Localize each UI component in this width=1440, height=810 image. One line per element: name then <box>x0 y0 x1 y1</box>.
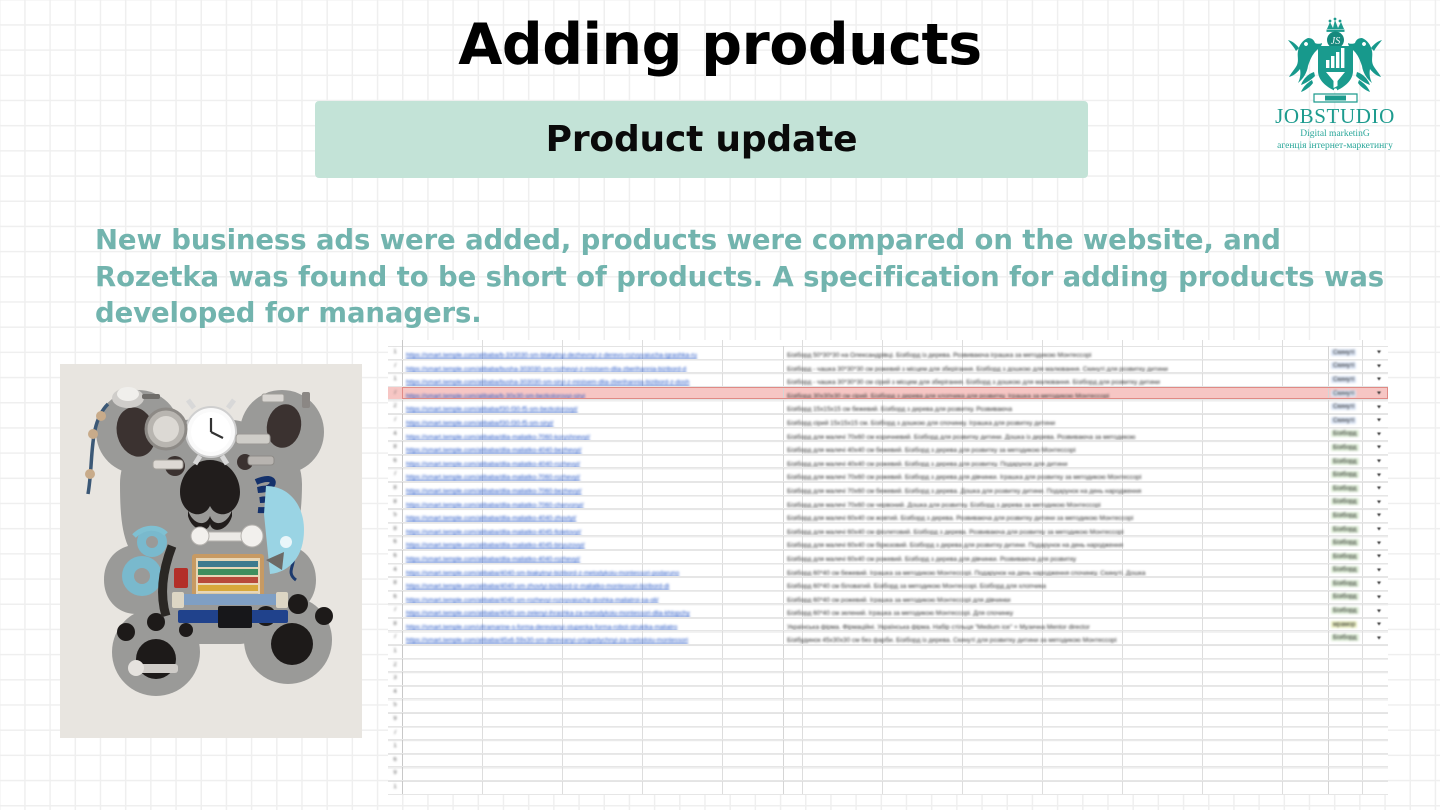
cell-product-url[interactable]: https://smart.temple.com/alibaba/4040-sm… <box>402 604 783 617</box>
table-row[interactable]: 4https://smart.temple.com/alibaba/dlia-m… <box>388 428 1388 442</box>
cell-product-description[interactable]: Бізіборд 60*40 см біловатий. Бізіборд за… <box>783 577 1328 590</box>
row-number: 9 <box>388 767 402 780</box>
spreadsheet-rows: 1https://smart.temple.com/alibaba/b-3X30… <box>388 346 1388 795</box>
row-number: 6 <box>388 455 402 468</box>
cell-empty[interactable] <box>783 672 1328 685</box>
status-badge: Бізіборд <box>1331 566 1359 573</box>
slide-canvas: Adding products Product update New busin… <box>0 0 1440 810</box>
table-row-empty[interactable]: 9 <box>388 713 1388 727</box>
cell-product-description[interactable]: Бізіборд для малечі 70x60 см коричневий.… <box>783 428 1328 441</box>
cell-product-url[interactable]: https://smart.temple.com/alibaba/45x6-59… <box>402 631 783 644</box>
row-number: 7 <box>388 387 402 400</box>
table-row-empty[interactable]: 7 <box>388 727 1388 741</box>
status-badge: мрамор <box>1331 621 1357 628</box>
cell-product-description[interactable]: Бізіборд для малечі 60x40 см рожевий. Бі… <box>783 550 1328 563</box>
cell-product-url[interactable]: https://smart.temple.com/alibaba/f30-f30… <box>402 414 783 427</box>
table-row[interactable]: 6https://smart.temple.com/alibaba/dlia-m… <box>388 455 1388 469</box>
cell-empty[interactable] <box>783 659 1328 672</box>
cell-empty[interactable] <box>1328 754 1388 767</box>
cell-product-url[interactable]: https://smart.temple.com/alibaba/busha-3… <box>402 373 783 386</box>
logo-tagline-en: Digital marketinG <box>1270 129 1400 141</box>
cell-product-description[interactable]: Бізіборд для малечі 60x40 см жовтий. Біз… <box>783 509 1328 522</box>
chevron-down-icon[interactable] <box>1377 636 1381 639</box>
status-badge: Бізіборд <box>1331 430 1359 437</box>
row-number: 2 <box>388 659 402 672</box>
cell-status-dropdown[interactable]: Бізіборд <box>1328 577 1388 590</box>
cell-empty[interactable] <box>402 699 783 712</box>
cell-product-url[interactable]: https://smart.temple.com/ultramarine-s-f… <box>402 618 783 631</box>
cell-empty[interactable] <box>783 754 1328 767</box>
cell-status-dropdown[interactable]: Скинуті <box>1328 360 1388 373</box>
table-row[interactable]: 8https://smart.temple.com/alibaba/dlia-m… <box>388 523 1388 537</box>
row-number: 4 <box>388 564 402 577</box>
status-badge: Бізіборд <box>1331 458 1359 465</box>
chevron-down-icon[interactable] <box>1377 460 1381 463</box>
cell-empty[interactable] <box>1328 727 1388 740</box>
chevron-down-icon[interactable] <box>1377 432 1381 435</box>
chevron-down-icon[interactable] <box>1377 528 1381 531</box>
table-row[interactable]: 7https://smart.temple.com/alibaba/4040-s… <box>388 604 1388 618</box>
table-row[interactable]: 7https://smart.temple.com/alibaba/f30-f3… <box>388 414 1388 428</box>
status-badge: Бізіборд <box>1331 485 1359 492</box>
cell-empty[interactable] <box>783 645 1328 658</box>
cell-status-dropdown[interactable]: Скинуті <box>1328 373 1388 386</box>
cell-status-dropdown[interactable]: Скинуті <box>1328 387 1388 400</box>
chevron-down-icon[interactable] <box>1377 623 1381 626</box>
table-row[interactable]: 6https://smart.temple.com/alibaba/dlia-m… <box>388 550 1388 564</box>
table-row[interactable]: 8https://smart.temple.com/alibaba/dlia-m… <box>388 496 1388 510</box>
cell-product-url[interactable]: https://smart.temple.com/alibaba/b-3X303… <box>402 346 783 359</box>
status-badge: Бізіборд <box>1331 444 1359 451</box>
cell-product-url[interactable]: https://smart.temple.com/alibaba/dlia-ma… <box>402 509 783 522</box>
chevron-down-icon[interactable] <box>1377 555 1381 558</box>
row-number: 8 <box>388 496 402 509</box>
status-badge: Бізіборд <box>1331 593 1359 600</box>
cell-status-dropdown[interactable]: Бізіборд <box>1328 509 1388 522</box>
cell-product-description[interactable]: Бізіборд - чашка 30*30*30 см рожевий з м… <box>783 360 1328 373</box>
cell-empty[interactable] <box>783 686 1328 699</box>
cell-empty[interactable] <box>1328 659 1388 672</box>
status-badge: Скинуті <box>1331 362 1356 369</box>
cell-status-dropdown[interactable]: Бізіборд <box>1328 523 1388 536</box>
status-badge: Скинуті <box>1331 417 1356 424</box>
cell-product-url[interactable]: https://smart.temple.com/alibaba/dlia-ma… <box>402 455 783 468</box>
row-number: 6 <box>388 591 402 604</box>
table-row-empty[interactable]: 9 <box>388 767 1388 781</box>
cell-empty[interactable] <box>402 767 783 780</box>
table-row[interactable]: 2https://smart.temple.com/alibaba/f30-f3… <box>388 400 1388 414</box>
cell-empty[interactable] <box>783 699 1328 712</box>
cell-status-dropdown[interactable]: Скинуті <box>1328 414 1388 427</box>
cell-product-description[interactable]: Бізіборд для малечі 40x40 см рожевий. Бі… <box>783 455 1328 468</box>
cell-product-description[interactable]: Бізіборд 60*40 см зелений. Іграшка за ме… <box>783 604 1328 617</box>
row-number: 6 <box>388 550 402 563</box>
cell-product-url[interactable]: https://smart.temple.com/alibaba/f30-f30… <box>402 400 783 413</box>
row-number: 7 <box>388 631 402 644</box>
cell-product-description[interactable]: Бізіборд для малечі 60x40 см фіолетовий.… <box>783 523 1328 536</box>
cell-product-description[interactable]: Бізіборд для малечі 70x60 см рожевий. Бі… <box>783 468 1328 481</box>
cell-status-dropdown[interactable]: Скинуті <box>1328 400 1388 413</box>
table-row[interactable]: 4https://smart.temple.com/alibaba/4040-s… <box>388 564 1388 578</box>
cell-product-url[interactable]: https://smart.temple.com/alibaba/4040-sm… <box>402 564 783 577</box>
table-row-empty[interactable]: 1 <box>388 645 1388 659</box>
cell-empty[interactable] <box>783 767 1328 780</box>
cell-status-dropdown[interactable]: мрамор <box>1328 618 1388 631</box>
cell-empty[interactable] <box>402 713 783 726</box>
chevron-down-icon[interactable] <box>1377 351 1381 354</box>
row-number: 1 <box>388 373 402 386</box>
spreadsheet-screenshot: 1https://smart.temple.com/alibaba/b-3X30… <box>388 340 1388 795</box>
chevron-down-icon[interactable] <box>1377 541 1381 544</box>
cell-product-description[interactable]: Бізіборд для малечі 40x40 см бежевий. Бі… <box>783 441 1328 454</box>
row-number: 7 <box>388 468 402 481</box>
table-row[interactable]: 6https://smart.temple.com/alibaba/4040-s… <box>388 591 1388 605</box>
product-photo <box>60 364 362 738</box>
table-row[interactable]: 7https://smart.temple.com/alibaba/dlia-m… <box>388 468 1388 482</box>
cell-product-description[interactable]: Бізіборд - чашка 30*30*30 см сірий з міс… <box>783 373 1328 386</box>
row-number: 2 <box>388 400 402 413</box>
table-row[interactable]: 7https://smart.temple.com/alibaba/45x6-5… <box>388 631 1388 645</box>
chevron-down-icon[interactable] <box>1377 473 1381 476</box>
brand-logo: JS JOBSTUDIO <box>1270 16 1400 156</box>
cell-product-description[interactable]: Бізібудинок 45x30x30 см без фарби. Бізіб… <box>783 631 1328 644</box>
row-number: 1 <box>388 645 402 658</box>
row-number: 1 <box>388 781 402 794</box>
table-row[interactable]: 8https://smart.temple.com/ultramarine-s-… <box>388 618 1388 632</box>
cell-product-description[interactable]: Бізіборд 60*40 см бежевий. Іграшка за ме… <box>783 564 1328 577</box>
status-badge: Бізіборд <box>1331 526 1359 533</box>
chevron-down-icon[interactable] <box>1377 405 1381 408</box>
cell-product-description[interactable]: Бізіборд 15x15x15 см бежевий. Бізіборд з… <box>783 400 1328 413</box>
cell-product-url[interactable]: https://smart.temple.com/alibaba/dlia-ma… <box>402 482 783 495</box>
status-badge: Бізіборд <box>1331 580 1359 587</box>
chevron-down-icon[interactable] <box>1377 487 1381 490</box>
row-number: 9 <box>388 713 402 726</box>
cell-product-url[interactable]: https://smart.temple.com/alibaba/dlia-ma… <box>402 441 783 454</box>
chevron-down-icon[interactable] <box>1377 568 1381 571</box>
table-row[interactable]: 5https://smart.temple.com/alibaba/dlia-m… <box>388 509 1388 523</box>
cell-product-url[interactable]: https://smart.temple.com/alibaba/dlia-ma… <box>402 428 783 441</box>
cell-empty[interactable] <box>1328 645 1388 658</box>
row-number: 5 <box>388 699 402 712</box>
chevron-down-icon[interactable] <box>1377 364 1381 367</box>
cell-product-url[interactable]: https://smart.temple.com/alibaba/dlia-ma… <box>402 496 783 509</box>
status-badge: Бізіборд <box>1331 512 1359 519</box>
table-row[interactable]: 8https://smart.temple.com/alibaba/4040-s… <box>388 577 1388 591</box>
logo-tagline-ua: агенція інтернет-маркетингу <box>1270 141 1400 153</box>
cell-status-dropdown[interactable]: Бізіборд <box>1328 482 1388 495</box>
row-number: 7 <box>388 604 402 617</box>
cell-product-description[interactable]: Бізіборд для малечі 70x60 см червоний. Д… <box>783 496 1328 509</box>
cell-product-description[interactable]: Бізіборд 60*40 см рожевий. Іграшка за ме… <box>783 591 1328 604</box>
cell-status-dropdown[interactable]: Бізіборд <box>1328 441 1388 454</box>
crest-icon: JS <box>1270 16 1400 108</box>
status-badge: Бізіборд <box>1331 498 1359 505</box>
chevron-down-icon[interactable] <box>1377 595 1381 598</box>
status-badge: Бізіборд <box>1331 634 1359 641</box>
chevron-down-icon[interactable] <box>1377 446 1381 449</box>
cell-status-dropdown[interactable]: Бізіборд <box>1328 468 1388 481</box>
cell-empty[interactable] <box>1328 699 1388 712</box>
cell-product-description[interactable]: Українська фірма. Фірмаційні. Українська… <box>783 618 1328 631</box>
chevron-down-icon[interactable] <box>1377 419 1381 422</box>
cell-empty[interactable] <box>1328 672 1388 685</box>
cell-empty[interactable] <box>783 781 1328 794</box>
cell-status-dropdown[interactable]: Бізіборд <box>1328 550 1388 563</box>
row-number: 7 <box>388 360 402 373</box>
row-number: 8 <box>388 618 402 631</box>
row-number: 8 <box>388 482 402 495</box>
chevron-down-icon[interactable] <box>1377 609 1381 612</box>
cell-status-dropdown[interactable]: Бізіборд <box>1328 591 1388 604</box>
cell-empty[interactable] <box>783 713 1328 726</box>
cell-empty[interactable] <box>402 740 783 753</box>
cell-status-dropdown[interactable]: Бізіборд <box>1328 631 1388 644</box>
cell-empty[interactable] <box>402 781 783 794</box>
cell-status-dropdown[interactable]: Бізіборд <box>1328 496 1388 509</box>
status-badge: Бізіборд <box>1331 539 1359 546</box>
row-number: 7 <box>388 727 402 740</box>
cell-status-dropdown[interactable]: Бізіборд <box>1328 536 1388 549</box>
cell-empty[interactable] <box>1328 686 1388 699</box>
table-row[interactable]: 7https://smart.temple.com/alibaba/b-30x3… <box>388 387 1388 401</box>
row-number: 3 <box>388 672 402 685</box>
row-number: 6 <box>388 754 402 767</box>
cell-empty[interactable] <box>783 740 1328 753</box>
table-row[interactable]: 8https://smart.temple.com/alibaba/dlia-m… <box>388 482 1388 496</box>
cell-empty[interactable] <box>783 727 1328 740</box>
koala-busy-board-image <box>60 364 362 738</box>
logo-wordmark: JOBSTUDIO <box>1270 106 1400 127</box>
cell-empty[interactable] <box>1328 740 1388 753</box>
status-badge: Скинуті <box>1331 376 1356 383</box>
cell-product-description[interactable]: Бізіборд сірий 15x15x15 см. Бізіборд з д… <box>783 414 1328 427</box>
table-row[interactable]: 7https://smart.temple.com/alibaba/busha-… <box>388 360 1388 374</box>
page-title: Adding products <box>0 14 1440 77</box>
row-number: 1 <box>388 346 402 359</box>
status-badge: Скинуті <box>1331 349 1356 356</box>
cell-product-url[interactable]: https://smart.temple.com/alibaba/b-30x30… <box>402 387 783 400</box>
row-number: 6 <box>388 536 402 549</box>
cell-empty[interactable] <box>1328 767 1388 780</box>
chevron-down-icon[interactable] <box>1377 500 1381 503</box>
table-row-empty[interactable]: 1 <box>388 781 1388 795</box>
cell-product-url[interactable]: https://smart.temple.com/alibaba/4040-sm… <box>402 577 783 590</box>
cell-status-dropdown[interactable]: Бізіборд <box>1328 428 1388 441</box>
row-number: 5 <box>388 509 402 522</box>
row-number: 1 <box>388 740 402 753</box>
table-row-empty[interactable]: 5 <box>388 699 1388 713</box>
table-row-empty[interactable]: 4 <box>388 686 1388 700</box>
cell-product-url[interactable]: https://smart.temple.com/alibaba/4040-sm… <box>402 591 783 604</box>
status-badge: Бізіборд <box>1331 553 1359 560</box>
table-row[interactable]: 6https://smart.temple.com/alibaba/dlia-m… <box>388 536 1388 550</box>
cell-empty[interactable] <box>402 754 783 767</box>
cell-status-dropdown[interactable]: Бізіборд <box>1328 455 1388 468</box>
body-paragraph: New business ads were added, products we… <box>95 222 1390 332</box>
row-number: 4 <box>388 686 402 699</box>
cell-empty[interactable] <box>1328 781 1388 794</box>
cell-product-description[interactable]: Бізіборд 50*30*30 на Олександрівці. Бізі… <box>783 346 1328 359</box>
cell-empty[interactable] <box>402 659 783 672</box>
row-number: 8 <box>388 577 402 590</box>
table-row[interactable]: 1https://smart.temple.com/alibaba/b-3X30… <box>388 346 1388 360</box>
row-number: 4 <box>388 428 402 441</box>
subtitle-text: Product update <box>546 119 858 160</box>
table-row-empty[interactable]: 6 <box>388 754 1388 768</box>
cell-product-description[interactable]: Бізіборд для малечі 60x40 см бірюзовий. … <box>783 536 1328 549</box>
row-number: 8 <box>388 523 402 536</box>
cell-empty[interactable] <box>402 727 783 740</box>
row-number: 8 <box>388 441 402 454</box>
row-number: 7 <box>388 414 402 427</box>
cell-empty[interactable] <box>402 672 783 685</box>
subtitle-banner: Product update <box>315 101 1088 178</box>
cell-empty[interactable] <box>402 645 783 658</box>
cell-status-dropdown[interactable]: Бізіборд <box>1328 564 1388 577</box>
cell-empty[interactable] <box>402 686 783 699</box>
svg-text:JS: JS <box>1331 36 1340 47</box>
status-badge: Скинуті <box>1331 403 1356 410</box>
chevron-down-icon[interactable] <box>1377 582 1381 585</box>
cell-product-url[interactable]: https://smart.temple.com/alibaba/dlia-ma… <box>402 550 783 563</box>
cell-product-description[interactable]: Бізіборд для малечі 70x60 см бежевий. Бі… <box>783 482 1328 495</box>
cell-product-description[interactable]: Бізіборд 30x30x30 см сірий. Бізіборд з д… <box>783 387 1328 400</box>
table-row[interactable]: 8https://smart.temple.com/alibaba/dlia-m… <box>388 441 1388 455</box>
table-row-empty[interactable]: 1 <box>388 740 1388 754</box>
cell-product-url[interactable]: https://smart.temple.com/alibaba/dlia-ma… <box>402 523 783 536</box>
chevron-down-icon[interactable] <box>1377 378 1381 381</box>
cell-product-url[interactable]: https://smart.temple.com/alibaba/dlia-ma… <box>402 468 783 481</box>
table-row[interactable]: 1https://smart.temple.com/alibaba/busha-… <box>388 373 1388 387</box>
cell-status-dropdown[interactable]: Скинуті <box>1328 346 1388 359</box>
cell-empty[interactable] <box>1328 713 1388 726</box>
chevron-down-icon[interactable] <box>1377 514 1381 517</box>
cell-product-url[interactable]: https://smart.temple.com/alibaba/busha-3… <box>402 360 783 373</box>
status-badge: Скинуті <box>1331 390 1356 397</box>
cell-status-dropdown[interactable]: Бізіборд <box>1328 604 1388 617</box>
status-badge: Бізіборд <box>1331 471 1359 478</box>
table-row-empty[interactable]: 2 <box>388 659 1388 673</box>
table-row-empty[interactable]: 3 <box>388 672 1388 686</box>
chevron-down-icon[interactable] <box>1377 392 1381 395</box>
status-badge: Бізіборд <box>1331 607 1359 614</box>
cell-product-url[interactable]: https://smart.temple.com/alibaba/dlia-ma… <box>402 536 783 549</box>
